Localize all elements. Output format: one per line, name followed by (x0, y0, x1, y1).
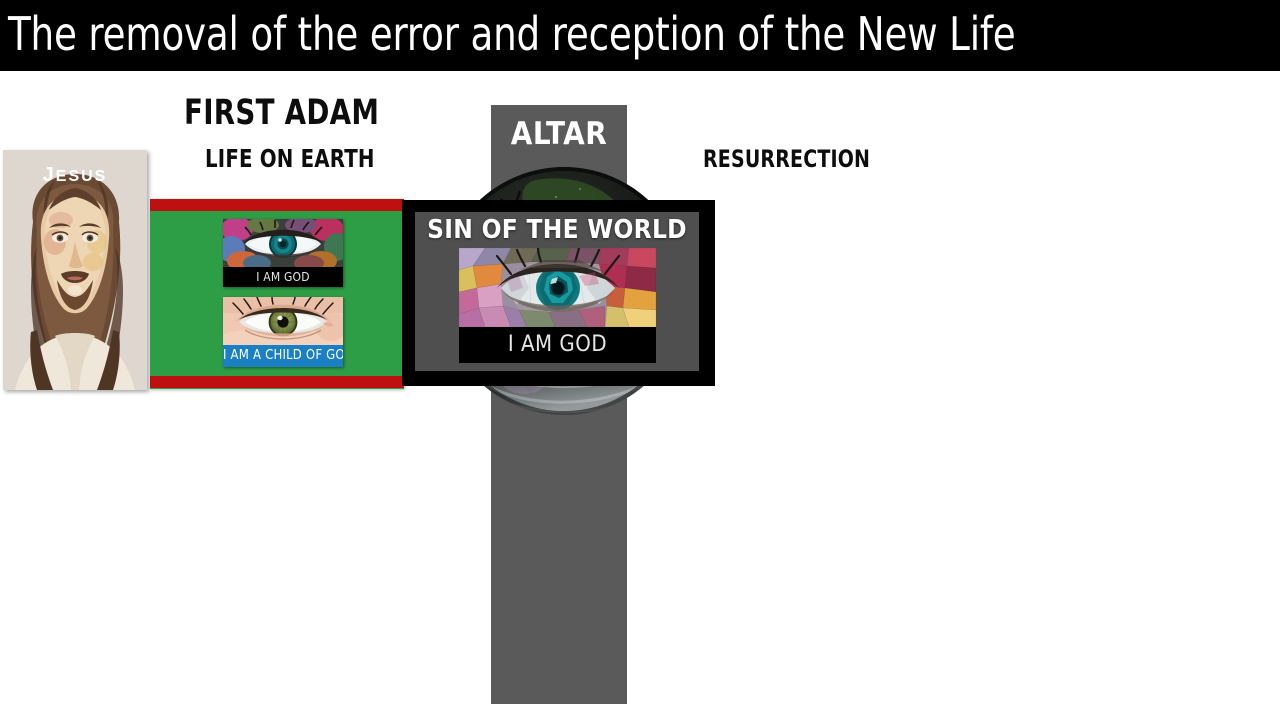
jesus-label: JESUS (3, 156, 147, 188)
colorful-painted-eye-icon (223, 219, 343, 267)
red-bar-top (150, 199, 404, 211)
eye-card-i-am-a-child-of-god: I AM A CHILD OF GOD (223, 297, 343, 367)
jesus-portrait-card: JESUS (3, 150, 147, 390)
eye-caption-i-am-god: I AM GOD (223, 267, 343, 287)
eye-caption-i-am-a-child-of-god: I AM A CHILD OF GOD (223, 345, 343, 367)
title-banner: The removal of the error and reception o… (0, 0, 1280, 71)
page-title: The removal of the error and reception o… (8, 6, 1016, 62)
sin-eye-card: I AM GOD (459, 248, 656, 363)
heading-life-on-earth: LIFE ON EARTH (205, 144, 375, 173)
sin-eye-caption: I AM GOD (459, 327, 656, 363)
sin-of-the-world-title: SIN OF THE WORLD (415, 215, 699, 245)
low-poly-mosaic-eye-icon (459, 248, 656, 327)
eye-card-i-am-god: I AM GOD (223, 219, 343, 287)
realistic-human-eye-icon (223, 297, 343, 345)
heading-altar: ALTAR (491, 116, 627, 152)
red-bar-bottom (150, 376, 404, 388)
heading-resurrection: RESURRECTION (703, 145, 870, 173)
heading-first-adam: FIRST ADAM (184, 93, 379, 133)
